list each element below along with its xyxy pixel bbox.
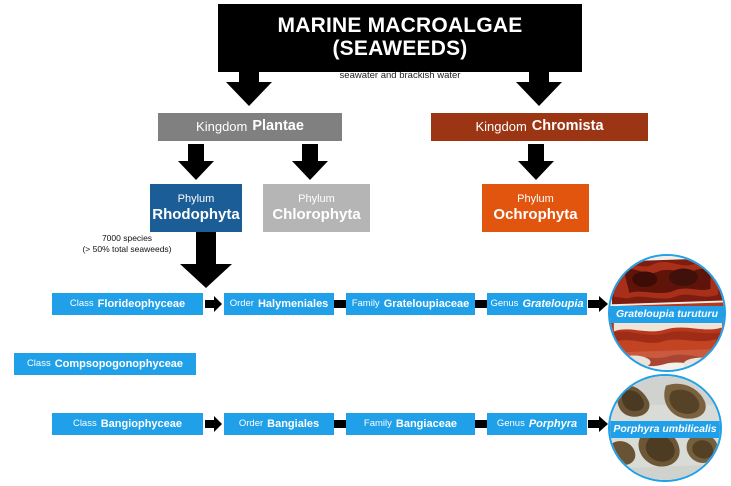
taxon-name-label: Halymeniales [258,298,328,311]
phylum-rank-label: Phylum [178,193,215,206]
taxon-name-label: Compsopogonophyceae [55,358,183,371]
arrow-down-to-plantae [226,60,272,106]
header-title-line1: MARINE MACROALGAE [278,15,523,38]
taxon-rank-label: Class [27,358,51,369]
kingdom-rank-label: Kingdom [475,119,526,134]
arrow-right-genus-to-species-photo [588,416,608,432]
phylum-name-label: Ochrophyta [493,206,577,224]
taxon-name-label: Porphyra [529,418,577,431]
kingdom-name-label: Chromista [532,118,604,135]
species-photo-porphyra-umbilicalis: Porphyra umbilicalis [608,374,722,482]
species-photo-caption: Grateloupia turuturu [610,306,724,323]
species-photo-grateloupia-turuturu: Grateloupia turuturu [608,254,726,372]
taxon-name-label: Bangiophyceae [101,418,182,431]
kingdom-box-chromista: Kingdom Chromista [431,113,648,141]
family-box-bangiaceae: Family Bangiaceae [346,413,475,435]
taxon-name-label: Grateloupiaceae [384,298,470,311]
phylum-rank-label: Phylum [517,193,554,206]
arrow-right-class-to-order [205,296,222,312]
phylum-box-rhodophyta: Phylum Rhodophyta [150,184,242,232]
species-photo-caption: Porphyra umbilicalis [610,421,720,438]
arrow-down-to-rhodophyta [178,144,214,180]
order-box-bangiales: Order Bangiales [224,413,334,435]
taxon-rank-label: Family [364,418,392,429]
header-title-line2: (SEAWEEDS) [332,38,467,61]
connector-family-to-genus [475,420,487,428]
arrow-down-to-ochrophyta [518,144,554,180]
kingdom-name-label: Plantae [252,118,304,135]
connector-order-to-family [334,300,346,308]
taxon-name-label: Bangiales [267,418,319,431]
arrow-down-to-chlorophyta [292,144,328,180]
kingdom-box-plantae: Kingdom Plantae [158,113,342,141]
taxon-rank-label: Class [70,298,94,309]
phylum-name-label: Chlorophyta [272,206,360,224]
taxonomy-diagram: MARINE MACROALGAE (SEAWEEDS) seawater an… [0,0,731,486]
kingdom-rank-label: Kingdom [196,119,247,134]
class-box-bangiophyceae: Class Bangiophyceae [52,413,203,435]
family-box-grateloupiaceae: Family Grateloupiaceae [346,293,475,315]
arrow-down-to-chromista [516,60,562,106]
class-box-compsopogonophyceae: Class Compsopogonophyceae [14,353,196,375]
phylum-box-chlorophyta: Phylum Chlorophyta [263,184,370,232]
taxon-rank-label: Order [239,418,263,429]
connector-family-to-genus [475,300,487,308]
class-box-florideophyceae: Class Florideophyceae [52,293,203,315]
phylum-rank-label: Phylum [298,193,335,206]
arrow-right-genus-to-species-photo [588,296,608,312]
taxon-rank-label: Class [73,418,97,429]
taxon-rank-label: Genus [490,298,518,309]
phylum-name-label: Rhodophyta [152,206,240,224]
taxon-name-label: Grateloupia [522,298,583,311]
taxon-rank-label: Family [352,298,380,309]
genus-box-porphyra: Genus Porphyra [487,413,587,435]
taxon-rank-label: Order [230,298,254,309]
phylum-box-ochrophyta: Phylum Ochrophyta [482,184,589,232]
taxon-name-label: Bangiaceae [396,418,457,431]
order-box-halymeniales: Order Halymeniales [224,293,334,315]
taxon-rank-label: Genus [497,418,525,429]
taxon-name-label: Florideophyceae [98,298,185,311]
arrow-down-to-classes [180,232,232,288]
arrow-right-class-to-order [205,416,222,432]
genus-box-grateloupia: Genus Grateloupia [487,293,587,315]
connector-order-to-family [334,420,346,428]
